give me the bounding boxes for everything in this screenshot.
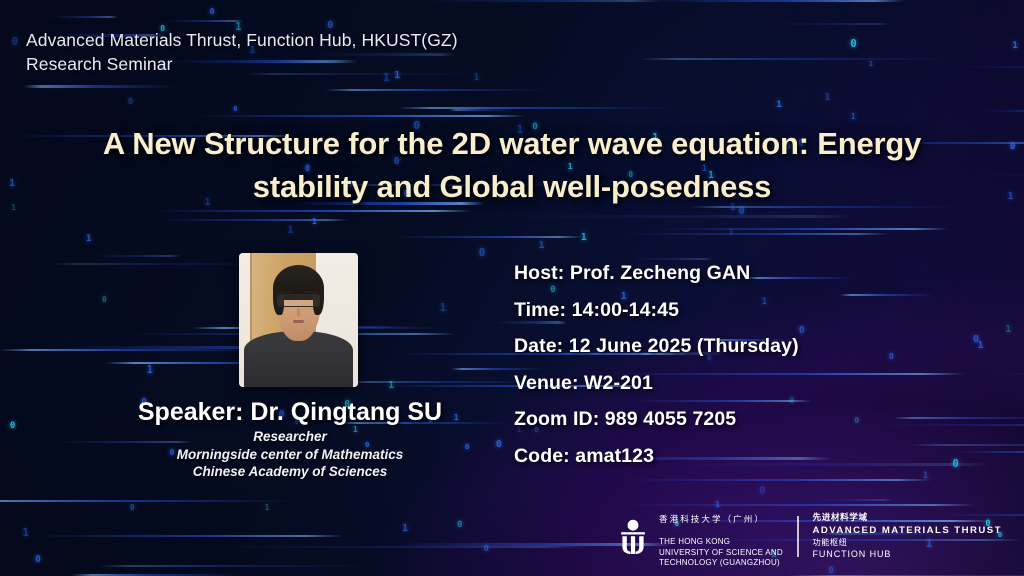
binary-bit: 0	[953, 458, 959, 470]
streak-line	[811, 499, 893, 501]
streak-line	[449, 109, 512, 111]
photo-mouth	[293, 320, 304, 323]
streak-line	[1018, 366, 1024, 368]
streak-line	[492, 215, 854, 218]
binary-bit: 0	[799, 325, 805, 336]
detail-row-zoomid: Zoom ID: 989 4055 7205	[514, 401, 799, 438]
binary-bit: 0	[854, 415, 859, 425]
binary-bit: 0	[484, 543, 489, 553]
seminar-title: A New Structure for the 2D water wave eq…	[62, 122, 962, 208]
binary-bit: 1	[1012, 41, 1017, 51]
binary-bit: 0	[128, 97, 133, 107]
streak-line	[988, 373, 1024, 375]
streak-line	[23, 85, 178, 88]
photo-brow-left	[279, 291, 292, 293]
streak-line	[639, 58, 965, 60]
streak-line	[969, 174, 1024, 176]
hkust-wordmark: 香港科技大学（广州） THE HONG KONG UNIVERSITY OF S…	[659, 505, 783, 568]
binary-bit: 1	[312, 217, 317, 226]
binary-bit: 1	[869, 59, 873, 68]
binary-bit: 1	[923, 471, 928, 481]
streak-line	[656, 228, 949, 230]
streak-line	[908, 444, 1024, 446]
binary-bit: 0	[479, 246, 486, 259]
detail-row-date: Date: 12 June 2025 (Thursday)	[514, 328, 799, 365]
hkust-emblem-icon	[617, 519, 649, 555]
detail-row-venue: Venue: W2-201	[514, 365, 799, 402]
streak-line	[622, 479, 932, 481]
streak-line	[893, 417, 1024, 419]
binary-bit: 0	[850, 37, 856, 50]
detail-row-time: Time: 14:00-14:45	[514, 292, 799, 329]
speaker-photo	[239, 253, 358, 387]
amt-hub-en: FUNCTION HUB	[813, 548, 1002, 560]
seminar-details-list: Host: Prof. Zecheng GANTime: 14:00-14:45…	[514, 255, 799, 474]
streak-line	[420, 0, 661, 2]
binary-bit: 1	[776, 100, 781, 110]
binary-bit: 1	[440, 301, 446, 314]
binary-bit: 1	[86, 234, 91, 244]
logo-divider	[797, 516, 799, 557]
binary-bit: 0	[759, 486, 765, 497]
binary-bit: 0	[496, 439, 502, 450]
streak-line	[212, 546, 588, 548]
speaker-affiliation: Researcher Morningside center of Mathema…	[95, 428, 485, 481]
detail-row-host: Host: Prof. Zecheng GAN	[514, 255, 799, 292]
binary-bit: 1	[1007, 191, 1013, 202]
seminar-poster: 1100110100000111111000100001000111111101…	[0, 0, 1024, 576]
binary-bit: 1	[147, 365, 153, 376]
binary-bit: 0	[1010, 142, 1015, 152]
binary-bit: 1	[22, 527, 28, 539]
streak-line	[398, 107, 677, 109]
amt-thrust-cn: 先进材料学域	[813, 513, 1002, 524]
streak-line	[646, 0, 905, 2]
binary-bit: 1	[581, 232, 587, 243]
streak-line	[872, 424, 1024, 426]
binary-bit: 1	[265, 503, 270, 512]
binary-bit: 0	[10, 421, 15, 431]
streak-line	[0, 349, 270, 351]
speaker-name: Speaker: Dr. Qingtang SU	[95, 398, 485, 427]
streak-line	[191, 115, 526, 117]
streak-line	[840, 294, 936, 296]
streak-line	[325, 89, 548, 91]
binary-bit: 1	[402, 523, 408, 534]
binary-bit: 1	[9, 178, 15, 189]
binary-bit: 0	[210, 6, 215, 16]
binary-bit: 1	[977, 340, 983, 351]
detail-row-code: Code: amat123	[514, 438, 799, 475]
streak-line	[950, 451, 1024, 453]
binary-bit: 1	[729, 227, 733, 236]
streak-line	[151, 210, 472, 212]
logo-bar: 香港科技大学（广州） THE HONG KONG UNIVERSITY OF S…	[617, 505, 1002, 568]
hkust-name-cn: 香港科技大学（广州）	[659, 515, 783, 525]
binary-bit: 1	[474, 73, 479, 83]
digital-streak-decoration: 1100110100000111111000100001000111111101…	[0, 0, 1024, 576]
organizer-header: Advanced Materials Thrust, Function Hub,…	[26, 28, 458, 76]
binary-bit: 0	[35, 554, 41, 565]
streak-line	[621, 233, 889, 235]
binary-bit: 0	[457, 520, 462, 530]
binary-bit: 1	[539, 240, 545, 251]
binary-bit: 0	[102, 295, 107, 304]
binary-bit: 1	[1005, 324, 1011, 335]
amt-wordmark: 先进材料学域 ADVANCED MATERIALS THRUST 功能枢纽 FU…	[813, 513, 1002, 560]
binary-bit: 1	[824, 92, 830, 103]
streak-line	[50, 16, 118, 18]
binary-bit: 0	[130, 503, 135, 512]
streak-line	[0, 500, 299, 502]
binary-bit: 0	[233, 104, 237, 113]
amt-hub-cn: 功能枢纽	[813, 537, 1002, 548]
binary-bit: 1	[388, 380, 394, 391]
photo-nose	[297, 308, 301, 317]
photo-brow-right	[304, 291, 317, 293]
streak-line	[98, 565, 373, 567]
streak-line	[156, 219, 349, 221]
streak-line	[982, 110, 1024, 112]
binary-bit: 1	[851, 112, 856, 121]
hkust-name-en: THE HONG KONG UNIVERSITY OF SCIENCE AND …	[659, 537, 783, 567]
streak-line	[30, 535, 342, 537]
binary-bit: 0	[889, 351, 894, 361]
amt-thrust-en: ADVANCED MATERIALS THRUST	[813, 524, 1002, 537]
streak-line	[164, 20, 243, 22]
binary-bit: 0	[12, 36, 18, 48]
photo-glasses	[277, 294, 320, 307]
streak-line	[772, 23, 890, 25]
binary-bit: 1	[11, 203, 16, 212]
streak-line	[392, 236, 582, 238]
streak-line	[89, 255, 181, 257]
binary-bit: 1	[288, 225, 294, 236]
streak-line	[958, 66, 1024, 68]
